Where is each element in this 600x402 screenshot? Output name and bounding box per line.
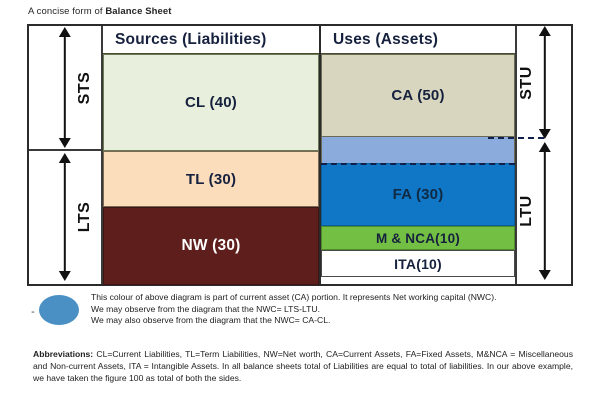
block-current-assets[interactable]: CA (50) [321,54,515,137]
block-intangible-assets[interactable]: ITA(10) [321,250,515,277]
stu-axis-label: STU [518,66,536,100]
sts-axis-cell: STS [29,26,101,151]
uses-header: Uses (Assets) [321,26,515,54]
abbreviations-title: Abbreviations: [33,349,93,359]
ltu-axis-cell: LTU [517,139,573,283]
block-net-working-capital[interactable] [321,137,515,163]
legend-line-2: We may observe from the diagram that the… [91,304,575,316]
legend-line-3: We may also observe from the diagram tha… [91,315,575,327]
sources-stack: CL (40) TL (30) NW (30) [103,54,319,284]
block-misc-noncurrent-assets[interactable]: M & NCA(10) [321,226,515,250]
right-axis-dashed-divider [488,137,544,139]
caption-prefix: A concise form of [28,6,105,17]
nwc-color-swatch [39,295,79,325]
abbreviations-body: CL=Current Liabilities, TL=Term Liabilit… [33,349,573,383]
left-axis-column: STS LTS [29,26,103,284]
abbreviations: Abbreviations: CL=Current Liabilities, T… [33,348,573,385]
sources-column: Sources (Liabilities) CL (40) TL (30) NW… [103,26,321,284]
block-current-liabilities[interactable]: CL (40) [103,54,319,151]
stu-arrow-icon [544,35,546,130]
right-axis-column: STU LTU [517,26,573,284]
legend-line-1: This colour of above diagram is part of … [91,292,575,304]
nwc-dashed-divider [321,163,515,165]
legend-bullet: - [27,292,39,318]
sts-arrow-icon [64,36,66,139]
ltu-arrow-icon [544,151,546,272]
lts-arrow-icon [64,162,66,273]
uses-stack: CA (50) FA (30) M & NCA(10) ITA(10) [321,54,515,284]
uses-column: Uses (Assets) CA (50) FA (30) M & NCA(10… [321,26,517,284]
sts-axis-label: STS [76,71,94,104]
ltu-axis-label: LTU [518,195,536,226]
lts-axis-label: LTS [76,202,94,233]
page-title: A concise form of Balance Sheet [28,6,172,17]
block-fixed-assets[interactable]: FA (30) [321,163,515,226]
balance-sheet-diagram: STS LTS Sources (Liabilities) CL (40) TL… [27,24,573,286]
lts-axis-cell: LTS [29,151,101,283]
stu-axis-cell: STU [517,26,573,139]
block-term-liabilities[interactable]: TL (30) [103,151,319,207]
block-net-worth[interactable]: NW (30) [103,207,319,285]
legend-text: This colour of above diagram is part of … [91,292,575,327]
legend: - This colour of above diagram is part o… [27,292,575,327]
caption-bold: Balance Sheet [105,6,171,17]
sources-header: Sources (Liabilities) [103,26,319,54]
